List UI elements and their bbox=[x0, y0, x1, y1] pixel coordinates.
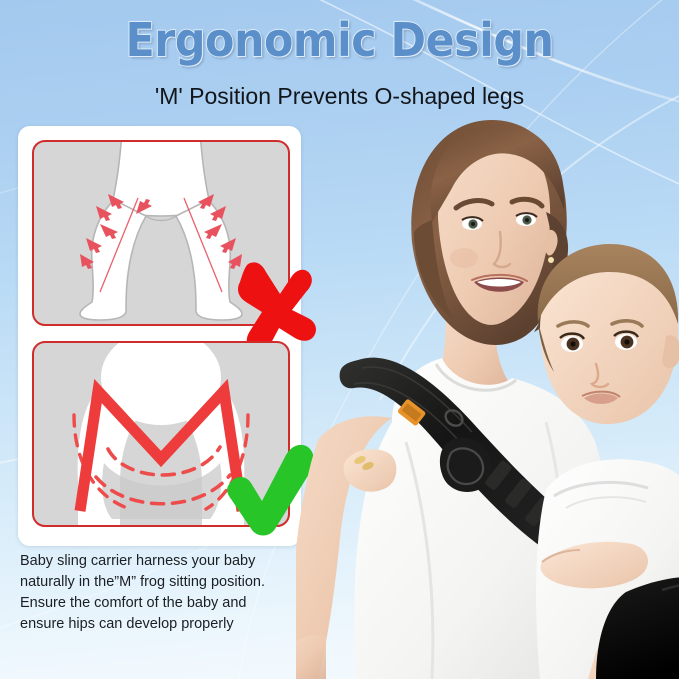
promo-image-root: Ergonomic Design 'M' Position Prevents O… bbox=[0, 0, 679, 679]
correct-posture-panel bbox=[32, 341, 290, 527]
m-position-illustration bbox=[30, 339, 292, 529]
o-shaped-legs-illustration bbox=[30, 138, 292, 328]
incorrect-posture-panel bbox=[32, 140, 290, 326]
illustration-card bbox=[18, 126, 301, 546]
caption-text: Baby sling carrier harness your baby nat… bbox=[20, 551, 292, 635]
mother-and-baby-photo bbox=[296, 92, 679, 679]
product-photo bbox=[296, 92, 679, 679]
page-title: Ergonomic Design bbox=[24, 14, 655, 66]
